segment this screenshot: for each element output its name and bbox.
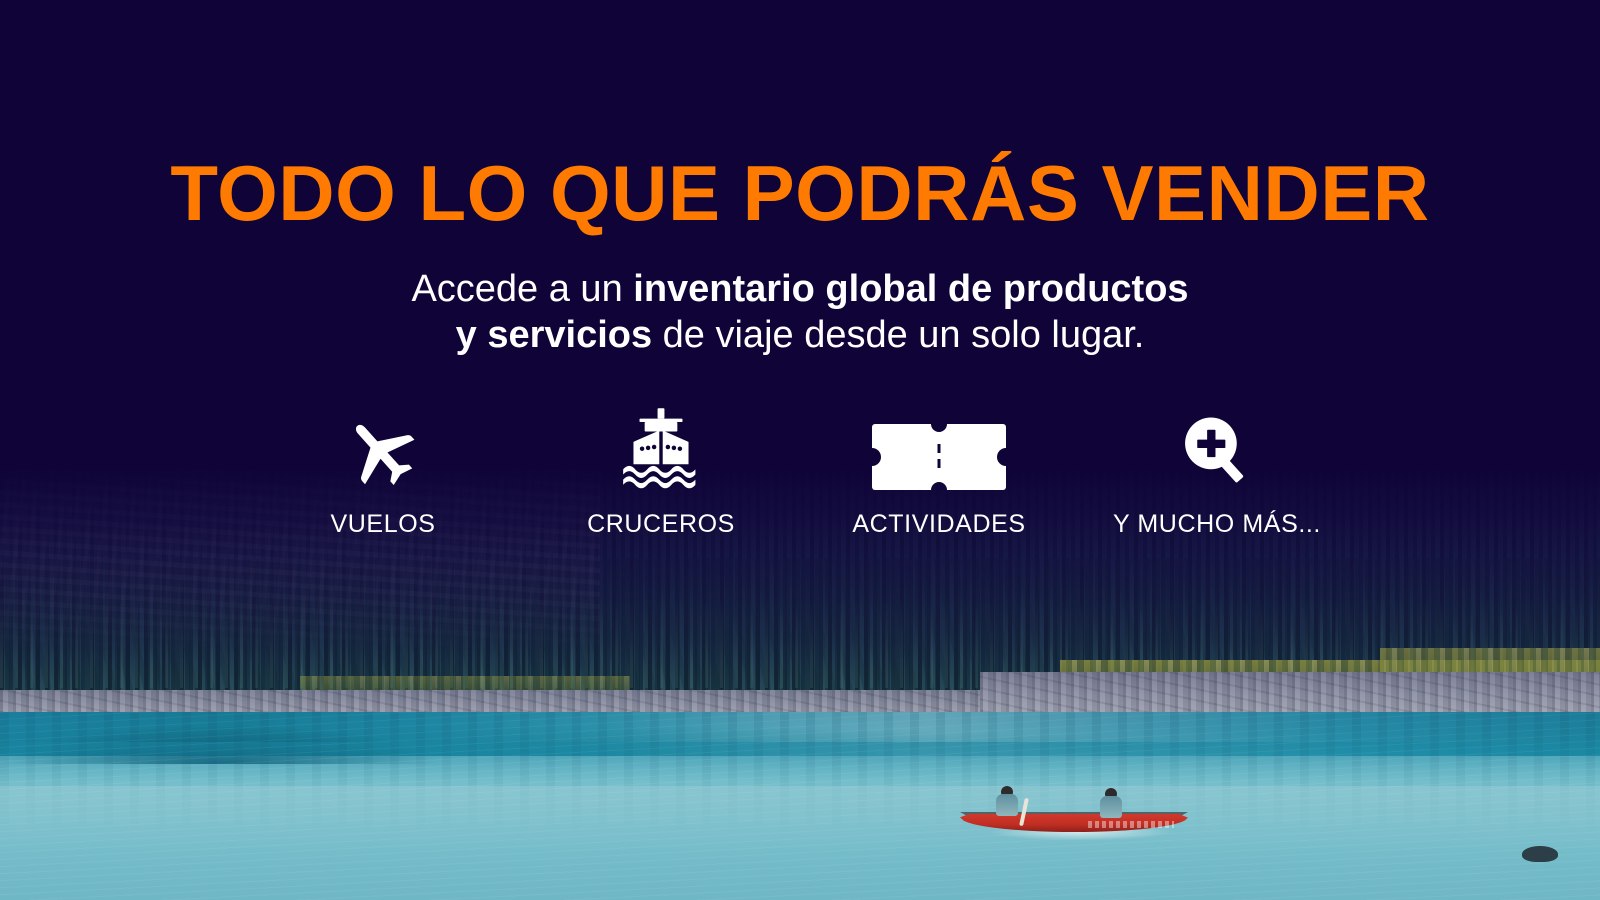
hero-banner: TODO LO QUE PODRÁS VENDER Accede a un in… — [0, 0, 1600, 900]
hero-subtitle: Accede a un inventario global de product… — [0, 266, 1600, 358]
category-list: VUELOS — [0, 404, 1600, 539]
subtitle-text-strong: inventario global de productos — [633, 268, 1188, 310]
subtitle-text-regular: Accede a un — [411, 268, 633, 310]
ticket-icon — [872, 424, 1006, 490]
subtitle-line-1: Accede a un inventario global de product… — [0, 266, 1600, 312]
icon-container — [522, 404, 800, 490]
category-item-cruceros[interactable]: CRUCEROS — [522, 404, 800, 539]
subtitle-text-regular: de viaje desde un solo lugar. — [652, 314, 1144, 356]
icon-container — [244, 404, 522, 490]
category-label: ACTIVIDADES — [852, 510, 1025, 539]
icon-container — [800, 404, 1078, 490]
airplane-icon — [340, 412, 426, 490]
icon-container — [1078, 404, 1356, 490]
page-title: TODO LO QUE PODRÁS VENDER — [0, 148, 1600, 239]
category-label: Y MUCHO MÁS... — [1113, 510, 1321, 539]
cruise-ship-icon — [618, 404, 704, 490]
category-label: CRUCEROS — [587, 510, 735, 539]
category-item-vuelos[interactable]: VUELOS — [244, 404, 522, 539]
hero-content: TODO LO QUE PODRÁS VENDER Accede a un in… — [0, 0, 1600, 900]
magnifier-plus-icon — [1179, 412, 1255, 490]
category-item-mucho-mas[interactable]: Y MUCHO MÁS... — [1078, 404, 1356, 539]
subtitle-text-strong: y servicios — [456, 314, 652, 356]
subtitle-line-2: y servicios de viaje desde un solo lugar… — [0, 312, 1600, 358]
category-label: VUELOS — [330, 510, 435, 539]
category-item-actividades[interactable]: ACTIVIDADES — [800, 404, 1078, 539]
